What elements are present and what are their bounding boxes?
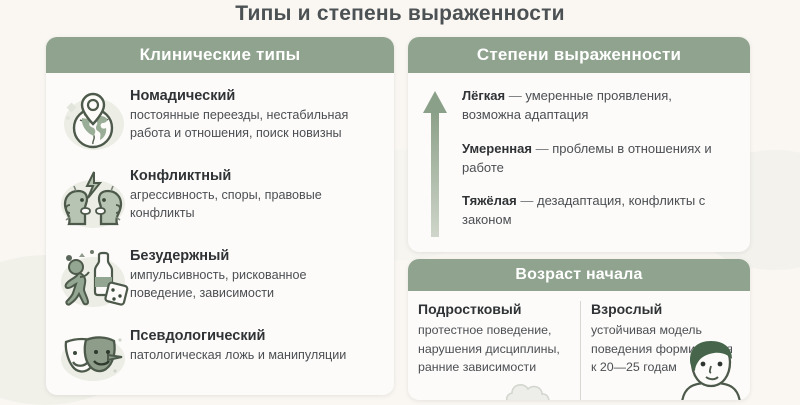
up-arrow-icon <box>408 85 462 239</box>
severity-list: Лёгкая — умеренные проявления, возможна … <box>462 85 734 239</box>
list-item[interactable]: Псевдологический патологическая ложь и м… <box>46 319 394 395</box>
type-name: Конфликтный <box>130 168 362 184</box>
theater-masks-icon <box>56 324 130 394</box>
severity-dash: — <box>520 193 533 208</box>
type-name: Безудержный <box>130 248 362 264</box>
type-description: патологическая ложь и манипуляции <box>130 347 346 365</box>
list-item[interactable]: Конфликтный агрессивность, споры, правов… <box>46 159 394 239</box>
list-item-text: Номадический постоянные переезды, нестаб… <box>130 84 362 143</box>
type-description: импульсивность, рискованное поведение, з… <box>130 267 362 303</box>
running-man-bottle-dice-icon <box>56 244 130 314</box>
severity-name: Умеренная <box>462 141 532 156</box>
age-of-onset-header: Возраст начала <box>408 259 750 291</box>
age-column-name: Подростковый <box>418 301 570 317</box>
list-item-text: Безудержный импульсивность, рискованное … <box>130 244 362 303</box>
type-description: постоянные переезды, нестабильная работа… <box>130 107 362 143</box>
severity-name: Лёгкая <box>462 88 505 103</box>
list-item[interactable]: Лёгкая — умеренные проявления, возможна … <box>462 87 722 125</box>
list-item[interactable]: Тяжёлая — дезадаптация, конфликты с зако… <box>462 192 722 230</box>
age-column-description: протестное поведение, нарушения дисципли… <box>418 321 570 377</box>
page-title: Типы и степень выраженности <box>0 2 800 26</box>
list-item[interactable]: Номадический постоянные переезды, нестаб… <box>46 79 394 159</box>
list-item-text: Псевдологический патологическая ложь и м… <box>130 324 346 365</box>
type-name: Номадический <box>130 88 362 104</box>
type-description: агрессивность, споры, правовые конфликты <box>130 187 362 223</box>
severity-dash: — <box>509 88 522 103</box>
cloud-shape-icon <box>504 378 574 400</box>
severity-card: Степени выраженности Лёгкая — умеренны <box>408 37 750 252</box>
age-of-onset-body: Подростковый протестное поведение, наруш… <box>408 291 750 400</box>
list-item[interactable]: Умеренная — проблемы в отношениях и рабо… <box>462 140 722 178</box>
age-column-name: Взрослый <box>591 301 741 317</box>
clinical-types-header: Клинические типы <box>46 37 394 73</box>
man-head-icon <box>670 340 750 400</box>
age-of-onset-card: Возраст начала Подростковый протестное п… <box>408 259 750 400</box>
type-name: Псевдологический <box>130 328 346 344</box>
clinical-types-list: Номадический постоянные переезды, нестаб… <box>46 73 394 395</box>
severity-name: Тяжёлая <box>462 193 517 208</box>
globe-pin-icon <box>56 84 130 154</box>
list-item[interactable]: Безудержный импульсивность, рискованное … <box>46 239 394 319</box>
severity-header: Степени выраженности <box>408 37 750 73</box>
severity-dash: — <box>536 141 549 156</box>
clinical-types-card: Клинические типы Номадический <box>46 37 394 395</box>
list-item-text: Конфликтный агрессивность, споры, правов… <box>130 164 362 223</box>
arguing-heads-icon <box>56 164 130 234</box>
severity-body: Лёгкая — умеренные проявления, возможна … <box>408 73 750 239</box>
